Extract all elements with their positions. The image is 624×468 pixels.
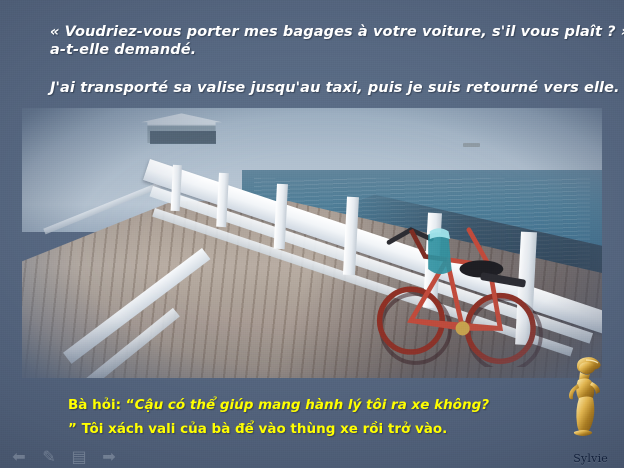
next-icon[interactable]: ➡ (100, 448, 118, 464)
golden-lady-figurine-icon (556, 352, 610, 438)
vietnamese-line-1-prefix: Bà hỏi: “ (68, 397, 135, 413)
pavilion-shade (150, 131, 217, 145)
slideshow-nav-bar[interactable]: ⬅ ✎ ▤ ➡ (10, 448, 118, 464)
vietnamese-line-1-quote: Cậu có thể giúp mang hành lý tôi ra xe k… (135, 397, 489, 413)
menu-icon[interactable]: ▤ (70, 448, 88, 464)
presentation-slide: « Voudriez-vous porter mes bagages à vot… (0, 0, 624, 468)
french-line-1: « Voudriez-vous porter mes bagages à vot… (50, 24, 624, 40)
french-line-3: J'ai transporté sa valise jusqu'au taxi,… (50, 80, 620, 96)
pier-photograph (22, 108, 602, 378)
bicycle-icon (312, 211, 579, 368)
signature-text: Sylvie (573, 452, 608, 465)
pen-icon[interactable]: ✎ (40, 448, 58, 464)
previous-icon[interactable]: ⬅ (10, 448, 28, 464)
french-line-2: a-t-elle demandé. (50, 42, 196, 58)
photo-content (22, 108, 602, 378)
distant-boat-icon (463, 143, 480, 147)
vietnamese-line-1: Bà hỏi: “Cậu có thể giúp mang hành lý tô… (68, 397, 489, 413)
vietnamese-line-2: ” Tôi xách vali của bà để vào thùng xe r… (68, 421, 447, 437)
